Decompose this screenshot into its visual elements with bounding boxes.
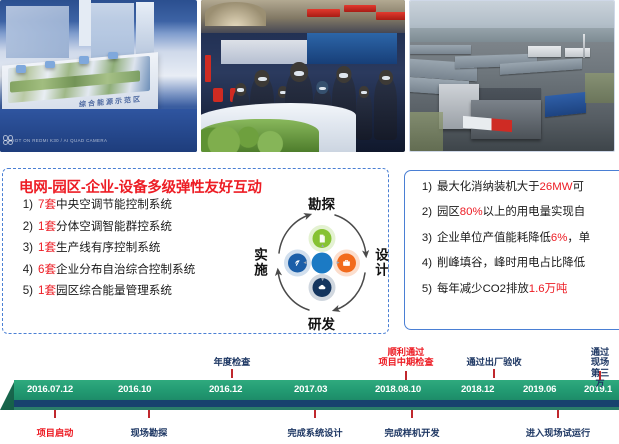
list-item: 4) 6套 企业分布自治综合控制系统 [9,264,247,276]
list-item-text: 企业分布自治综合控制系统 [56,264,195,276]
timeline-date: 2016.12 [209,384,242,395]
timeline-below-label: 现场勘探 [131,425,168,439]
timeline-above-label: 年度检查 [214,357,251,367]
aerial-industrial-park-photo [409,0,615,152]
list-item-text-pre: 削峰填谷，峰时用电占比降低 [437,258,585,269]
list-item-number: 4) [9,264,38,276]
photo2-red-banner [307,9,340,17]
photo2-person [374,76,396,140]
photo1-booth [6,6,69,58]
list-item-qty: 1套 [38,221,56,233]
list-item-text: 生产线有序控制系统 [56,242,160,254]
list-item-number: 4) [409,258,437,269]
list-item: 5) 每年减少CO2排放 1.6万吨 [409,284,590,295]
timeline-shadow [14,400,619,407]
photo-strip: 综合能源示范区 SHOT ON REDMI K30 / AI QUAD CAME… [0,0,619,155]
list-item-highlight: 1.6万吨 [529,284,568,295]
list-item-text-pre: 企业单位产值能耗降低 [437,233,551,244]
cycle-label-right: 设计 [375,248,389,277]
photo1-display-panel-2 [136,2,154,57]
photo3-warehouse-roof [528,46,561,57]
photo3-warehouse-roof [565,48,589,57]
list-item-qty: 7套 [38,199,56,211]
photo1-watermark: SHOT ON REDMI K30 / AI QUAD CAMERA [8,138,107,144]
list-item-text-post: 可 [572,182,583,193]
photo2-red-object [213,88,223,102]
timeline-tick [493,369,495,378]
left-panel-list: 1) 7套 中央空调节能控制系统 2) 1套 分体空调智能群控系统 3) 1套 … [9,199,247,307]
timeline-tick [557,410,559,418]
list-item-highlight: 6% [551,233,567,244]
photo1-lamp [108,52,118,60]
list-item: 5) 1套 园区综合能量管理系统 [9,285,247,297]
photo3-field [585,73,614,103]
photo1-lamp [45,61,55,69]
list-item-text-post: ，单 [567,233,590,244]
photo3-factory-roof [410,45,471,54]
left-panel-title: 电网-园区-企业-设备多级弹性友好互动 [19,176,262,197]
photo2-red-banner [376,12,405,20]
timeline-date: 2018.08.10 [375,384,421,395]
list-item: 2) 园区 80% 以上的用电量实现自 [409,207,590,218]
timeline-below-label: 项目启动 [37,425,74,439]
list-item: 4) 削峰填谷，峰时用电占比降低 [409,258,590,269]
photo3-chimney [583,34,585,58]
list-item-text-pre: 园区 [437,207,460,218]
chevron-left-icon: ◄ [302,260,307,266]
list-item-text: 园区综合能量管理系统 [56,285,172,297]
list-item: 1) 最大化消纳装机大于 26MW 可 [409,182,590,193]
list-item: 3) 企业单位产值能耗降低 6% ，单 [409,233,590,244]
project-timeline: 2016.07.12 2016.10 2016.12 2017.03 2018.… [0,340,619,444]
timeline-below-label: 完成系统设计 [287,425,342,439]
list-item-number: 2) [9,221,38,233]
photo1-lamp [16,65,26,73]
list-item-number: 2) [409,207,437,218]
list-item-text-pre: 每年减少CO2排放 [437,284,529,295]
timeline-above-label: 顺利通过 项目中期检查 [378,347,433,368]
photo1-lamp [79,56,89,64]
list-item-text: 分体空调智能群控系统 [56,221,172,233]
list-item-number: 5) [409,284,437,295]
chevron-up-icon: ▲ [320,243,325,249]
timeline-date: 2019.06 [523,384,556,395]
photo2-screen [307,33,397,63]
list-item-qty: 1套 [38,242,56,254]
list-item: 1) 7套 中央空调节能控制系统 [9,199,247,211]
timeline-tick [599,371,601,380]
list-item-text-post: 以上的用电量实现自 [483,207,586,218]
list-item-qty: 6套 [38,264,56,276]
photo2-red-object [205,55,211,82]
list-item: 2) 1套 分体空调智能群控系统 [9,221,247,233]
photo2-arch [205,2,266,26]
timeline-tick [405,371,407,380]
timeline-cap [0,380,15,410]
lifecycle-diagram: 勘探 设计 研发 实施 [255,195,388,331]
photo1-floor [0,109,197,152]
exhibition-scale-model-photo: 综合能源示范区 SHOT ON REDMI K30 / AI QUAD CAME… [0,0,197,152]
list-item-text: 中央空调节能控制系统 [56,199,172,211]
timeline-tick [314,410,316,418]
list-item-number: 3) [9,242,38,254]
timeline-date: 2017.03 [294,384,327,395]
photo2-model-greenery [201,119,319,152]
timeline-date: 2018.12 [461,384,494,395]
list-item: 3) 1套 生产线有序控制系统 [9,242,247,254]
timeline-above-label: 通过现场 第三方 [591,347,610,388]
cycle-center-node [311,253,332,274]
timeline-above-label: 通过出厂验收 [466,357,521,367]
list-item-qty: 1套 [38,285,56,297]
list-item-number: 5) [9,285,38,297]
timeline-tick [54,410,56,418]
cycle-label-left: 实施 [254,248,268,277]
timeline-below-label: 完成样机开发 [384,425,439,439]
right-panel-list: 1) 最大化消纳装机大于 26MW 可 2) 园区 80% 以上的用电量实现自 … [409,182,590,309]
timeline-tick [231,369,233,378]
list-item-text-pre: 最大化消纳装机大于 [437,182,540,193]
photo1-column [79,0,91,46]
photo2-red-banner [344,5,377,13]
timeline-date: 2016.07.12 [27,384,73,395]
right-content-panel: 1) 最大化消纳装机大于 26MW 可 2) 园区 80% 以上的用电量实现自 … [404,170,619,330]
cycle-hub: ▲ ▼ ◄ ► [288,229,356,297]
list-item-number: 3) [409,233,437,244]
officials-inspection-photo [201,0,405,152]
left-content-panel: 电网-园区-企业-设备多级弹性友好互动 1) 7套 中央空调节能控制系统 2) … [2,168,389,334]
timeline-tick [148,410,150,418]
list-item-highlight: 26MW [540,182,573,193]
timeline-below-label: 进入现场试运行 [526,425,590,439]
timeline-date: 2016.10 [118,384,151,395]
list-item-number: 1) [409,182,437,193]
photo3-field [410,112,443,151]
photo2-person [356,91,372,140]
timeline-tick [411,410,413,418]
chevron-right-icon: ► [336,260,341,266]
photo3-blue-roof [545,92,586,117]
photo2-booth [221,40,307,64]
list-item-highlight: 80% [460,207,483,218]
list-item-number: 1) [9,199,38,211]
timeline-shadow-2 [14,407,619,410]
chevron-down-icon: ▼ [320,277,325,283]
